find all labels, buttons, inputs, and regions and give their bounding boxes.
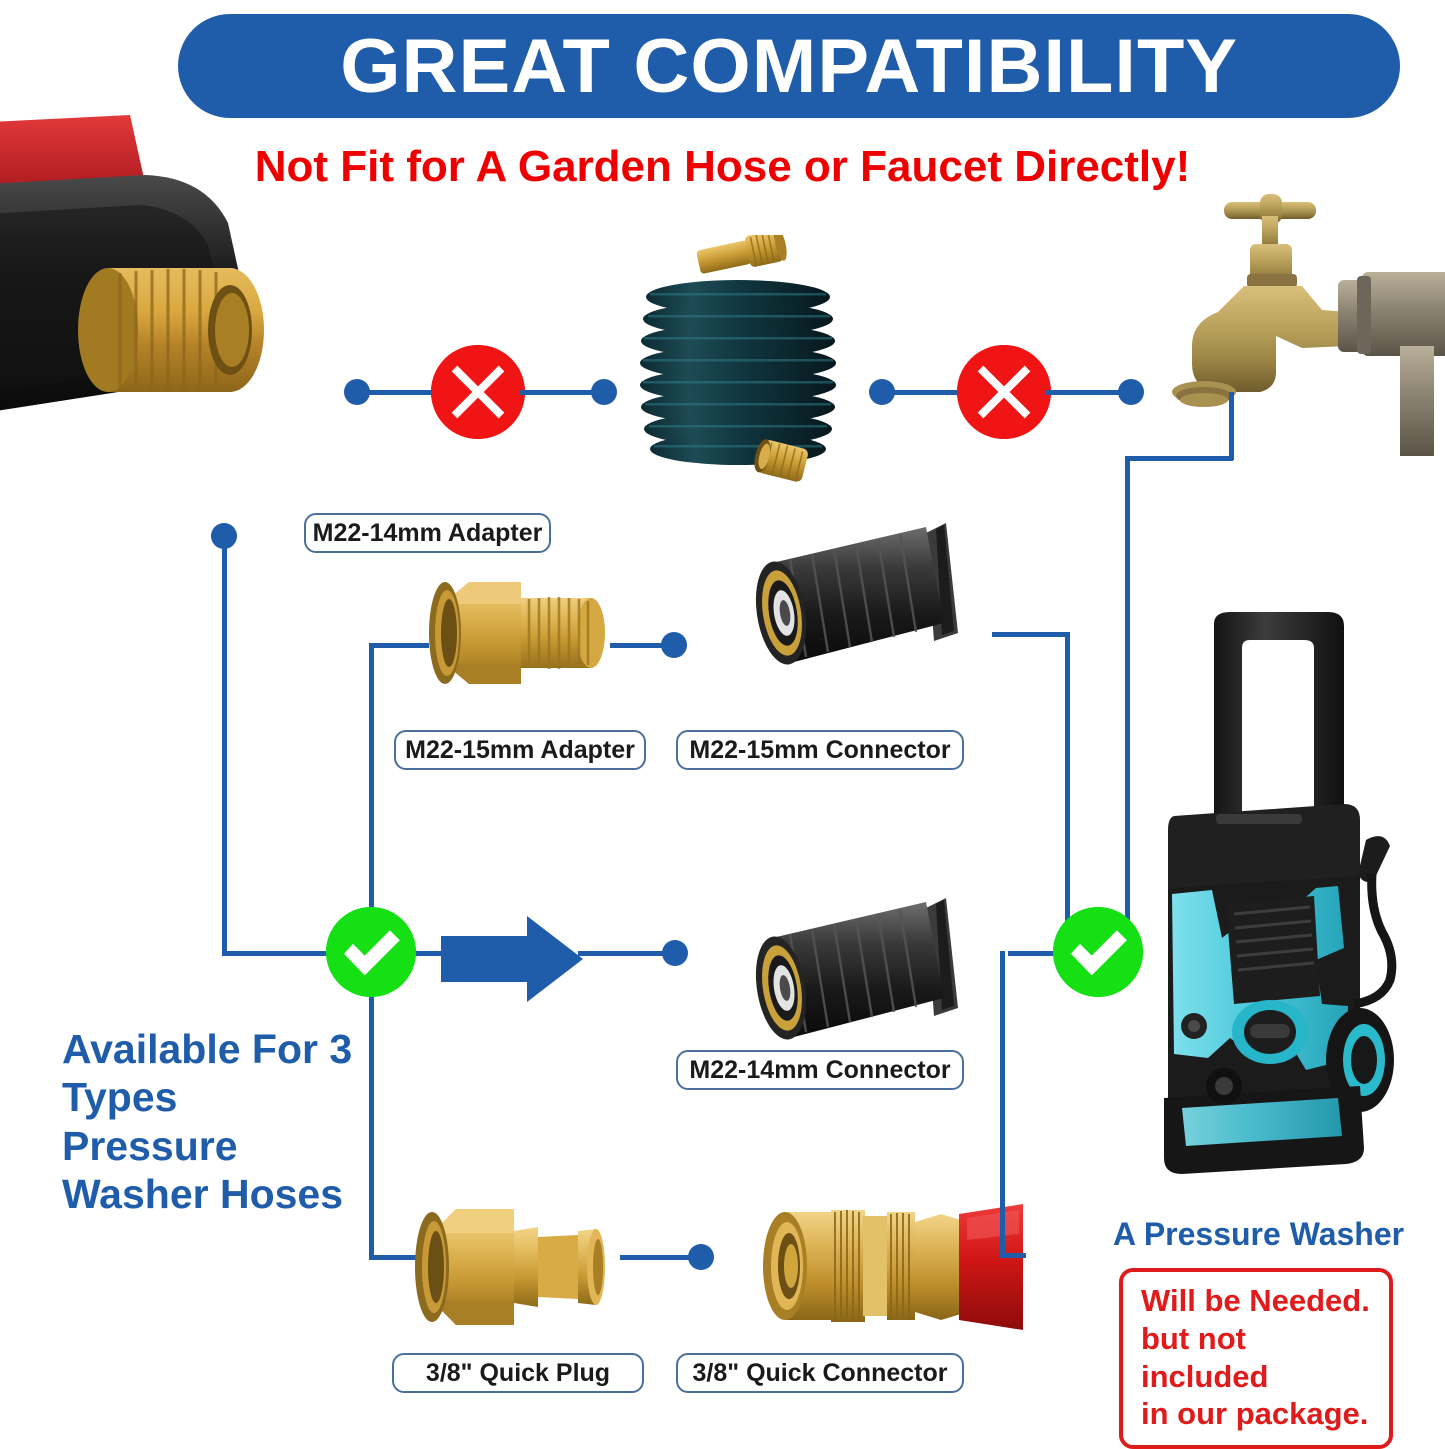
connector-dot-m22-14-connector	[662, 940, 688, 966]
page-title-pill: GREAT COMPATIBILITY	[178, 14, 1400, 118]
quick-connector-image	[755, 1190, 1025, 1345]
line-right-branch-vertical	[1065, 632, 1070, 952]
label-quick-connector: 3/8" Quick Connector	[676, 1353, 964, 1393]
line-right-lower-horizontal	[1000, 1253, 1026, 1258]
line-left-trunk-vertical	[222, 536, 227, 956]
connector-dot-faucet	[1118, 379, 1144, 405]
check-icon	[1053, 907, 1143, 997]
label-m22-15mm-adapter: M22-15mm Adapter	[394, 730, 646, 770]
label-quick-plug: 3/8" Quick Plug	[392, 1353, 644, 1393]
pressure-washer-caption: A Pressure Washer	[1113, 1216, 1404, 1253]
connector-dot-quick-connector	[688, 1244, 714, 1270]
line-branch-m22-15-horizontal	[369, 643, 429, 648]
pressure-washer-image	[1138, 608, 1444, 1208]
line-branch-quickplug-vertical	[369, 960, 374, 1260]
garden-hose-image	[628, 235, 848, 485]
available-line-1: Available For 3	[62, 1025, 362, 1073]
arrow-right-icon	[441, 912, 583, 1006]
not-included-line-2: but not included	[1141, 1320, 1373, 1396]
connector-dot-hose-left	[591, 379, 617, 405]
line-quickplug-to-quickconnector	[620, 1255, 696, 1260]
available-callout: Available For 3 Types Pressure Washer Ho…	[62, 1025, 362, 1219]
label-m22-14mm-adapter: M22-14mm Adapter	[304, 513, 551, 553]
line-connector-top-to-right	[992, 632, 1070, 637]
line-check-to-arrow	[416, 951, 446, 956]
infographic-canvas: GREAT COMPATIBILITY Not Fit for A Garden…	[0, 0, 1445, 1409]
line-faucet-left	[1125, 456, 1233, 461]
not-included-line-1: Will be Needed.	[1141, 1282, 1373, 1320]
connector-dot-m22-15-connector	[661, 632, 687, 658]
cross-icon	[957, 345, 1051, 439]
not-included-line-3: in our package.	[1141, 1395, 1373, 1433]
line-right-trunk-vertical	[1125, 456, 1130, 952]
available-line-2: Types Pressure	[62, 1073, 362, 1170]
m22-14mm-connector-image	[730, 880, 990, 1070]
faucet-image	[1152, 186, 1445, 456]
line-cross2-to-faucet	[1046, 390, 1124, 395]
page-title: GREAT COMPATIBILITY	[340, 23, 1238, 110]
line-faucet-down	[1229, 392, 1234, 460]
label-m22-15mm-connector: M22-15mm Connector	[676, 730, 964, 770]
check-icon	[326, 907, 416, 997]
available-line-3: Washer Hoses	[62, 1170, 362, 1218]
not-included-warning-box: Will be Needed. but not included in our …	[1119, 1268, 1393, 1449]
cross-icon	[431, 345, 525, 439]
line-right-lower-vertical	[1000, 951, 1005, 1257]
foam-cannon-image	[0, 105, 310, 505]
m22-15mm-adapter-image	[425, 568, 615, 698]
label-m22-14mm-connector: M22-14mm Connector	[676, 1050, 964, 1090]
m22-15mm-connector-image	[730, 505, 990, 695]
quick-plug-image	[410, 1195, 630, 1340]
